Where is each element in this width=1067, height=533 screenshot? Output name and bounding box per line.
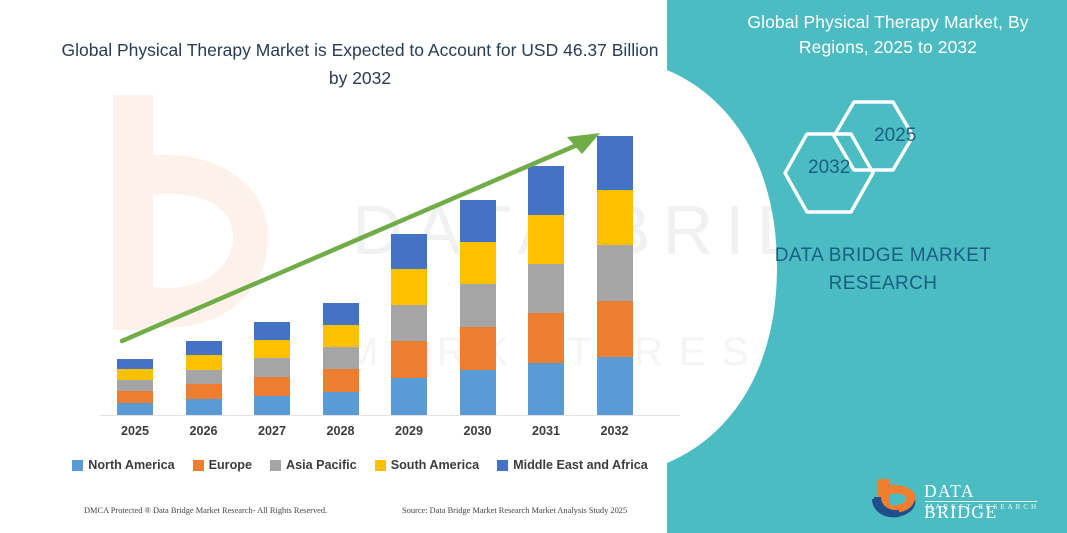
legend-label: Europe bbox=[209, 458, 252, 472]
x-axis-label-2031: 2031 bbox=[516, 424, 576, 438]
legend-swatch-icon bbox=[270, 460, 281, 471]
footer-source: Source: Data Bridge Market Research Mark… bbox=[402, 506, 627, 515]
chart-legend: North AmericaEuropeAsia PacificSouth Ame… bbox=[0, 455, 720, 475]
chart-plot-area: 20252026202720282029203020312032 North A… bbox=[0, 0, 720, 470]
growth-arrow-icon bbox=[0, 0, 720, 415]
x-axis-labels: 20252026202720282029203020312032 bbox=[0, 424, 720, 444]
brand-name-text: DATA BRIDGE MARKET RESEARCH bbox=[723, 242, 1043, 298]
logo-tagline: MARKET RESEARCH bbox=[926, 503, 1039, 511]
x-axis-label-2029: 2029 bbox=[379, 424, 439, 438]
right-brand-panel: Global Physical Therapy Market, By Regio… bbox=[667, 0, 1067, 533]
x-axis-label-2032: 2032 bbox=[585, 424, 645, 438]
logo-name: DATA BRIDGE bbox=[924, 481, 1045, 523]
legend-item-asia-pacific[interactable]: Asia Pacific bbox=[270, 458, 357, 472]
hexagon-badges: 2025 2032 bbox=[777, 96, 977, 226]
x-axis-line bbox=[100, 415, 680, 416]
legend-label: Middle East and Africa bbox=[513, 458, 648, 472]
infographic-root: DATA BRIDGE MARKET RESEARCH Global Physi… bbox=[0, 0, 1067, 533]
x-axis-label-2026: 2026 bbox=[174, 424, 234, 438]
footer: DMCA Protected ® Data Bridge Market Rese… bbox=[0, 506, 710, 526]
legend-item-south-america[interactable]: South America bbox=[375, 458, 479, 472]
x-axis-label-2027: 2027 bbox=[242, 424, 302, 438]
legend-item-north-america[interactable]: North America bbox=[72, 458, 174, 472]
x-axis-label-2028: 2028 bbox=[311, 424, 371, 438]
legend-label: Asia Pacific bbox=[286, 458, 357, 472]
x-axis-label-2025: 2025 bbox=[105, 424, 165, 438]
legend-swatch-icon bbox=[72, 460, 83, 471]
legend-label: North America bbox=[88, 458, 174, 472]
legend-swatch-icon bbox=[193, 460, 204, 471]
logo-divider bbox=[925, 501, 1037, 502]
data-bridge-logo: DATA BRIDGE MARKET RESEARCH bbox=[870, 477, 1045, 522]
footer-copyright: DMCA Protected ® Data Bridge Market Rese… bbox=[84, 506, 327, 515]
x-axis-label-2030: 2030 bbox=[448, 424, 508, 438]
legend-swatch-icon bbox=[497, 460, 508, 471]
hexagon-2025-label: 2025 bbox=[874, 125, 916, 147]
b-bridge-logo-icon bbox=[870, 477, 920, 521]
legend-label: South America bbox=[391, 458, 479, 472]
legend-item-europe[interactable]: Europe bbox=[193, 458, 252, 472]
legend-item-middle-east-and-africa[interactable]: Middle East and Africa bbox=[497, 458, 648, 472]
legend-swatch-icon bbox=[375, 460, 386, 471]
panel-title: Global Physical Therapy Market, By Regio… bbox=[733, 10, 1043, 60]
hexagon-2032-label: 2032 bbox=[808, 157, 850, 179]
